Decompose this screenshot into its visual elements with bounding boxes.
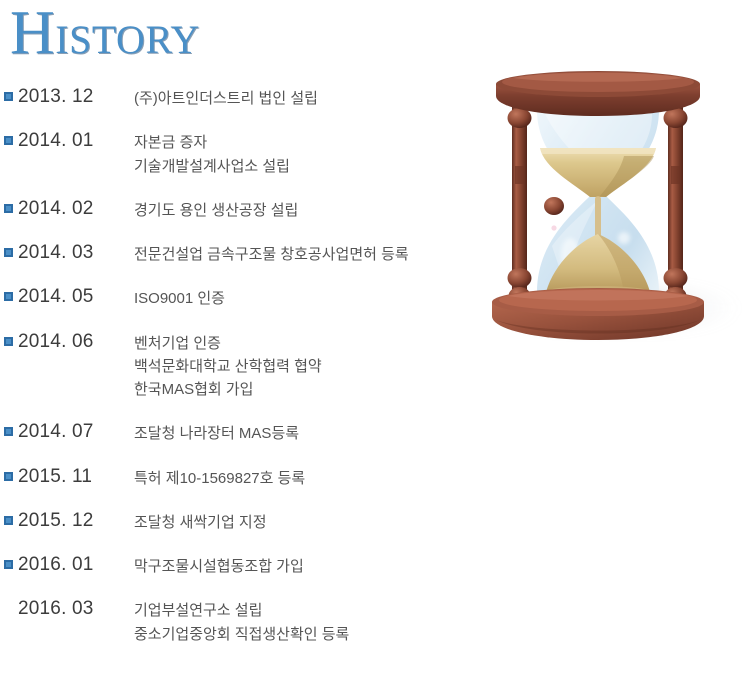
timeline-row: 2016. 01막구조물시설협동조합 가입 bbox=[0, 552, 470, 578]
timeline-description: 조달청 나라장터 MAS등록 bbox=[134, 419, 470, 445]
page-title-rest: ISTORY bbox=[55, 17, 200, 62]
timeline-row: 2015. 11특허 제10-1569827호 등록 bbox=[0, 464, 470, 490]
timeline-description: (주)아트인더스트리 법인 설립 bbox=[134, 84, 470, 110]
square-bullet-icon bbox=[4, 292, 13, 301]
timeline-date: 2013. 12 bbox=[18, 84, 134, 110]
square-bullet-icon bbox=[4, 472, 13, 481]
square-bullet-icon bbox=[4, 136, 13, 145]
timeline-description-line: (주)아트인더스트리 법인 설립 bbox=[134, 87, 470, 110]
timeline-date: 2015. 12 bbox=[18, 508, 134, 534]
timeline-description: 특허 제10-1569827호 등록 bbox=[134, 464, 470, 490]
timeline-description-line: 자본금 증자 bbox=[134, 131, 470, 154]
timeline-description-line: 특허 제10-1569827호 등록 bbox=[134, 467, 470, 490]
timeline-row: 2014. 01자본금 증자기술개발설계사업소 설립 bbox=[0, 128, 470, 178]
timeline-bullet-cell bbox=[0, 240, 18, 257]
timeline-date: 2014. 06 bbox=[18, 329, 134, 355]
timeline-description: ISO9001 인증 bbox=[134, 284, 470, 310]
timeline-row: 2014. 02경기도 용인 생산공장 설립 bbox=[0, 196, 470, 222]
timeline-bullet-cell bbox=[0, 284, 18, 301]
timeline-date: 2016. 01 bbox=[18, 552, 134, 578]
timeline-date: 2016. 03 bbox=[18, 596, 134, 622]
timeline-description: 벤처기업 인증백석문화대학교 산학협력 협약한국MAS협회 가입 bbox=[134, 329, 470, 402]
timeline-bullet-cell bbox=[0, 596, 18, 613]
timeline-description-line: 백석문화대학교 산학협력 협약 bbox=[134, 355, 470, 378]
timeline-date: 2014. 02 bbox=[18, 196, 134, 222]
timeline-date: 2014. 01 bbox=[18, 128, 134, 154]
timeline-bullet-cell bbox=[0, 128, 18, 145]
timeline-row: 2013. 12(주)아트인더스트리 법인 설립 bbox=[0, 84, 470, 110]
timeline-row: 2014. 03전문건설업 금속구조물 창호공사업면허 등록 bbox=[0, 240, 470, 266]
timeline-description-line: 기술개발설계사업소 설립 bbox=[134, 155, 470, 178]
timeline-date: 2015. 11 bbox=[18, 464, 134, 490]
timeline-description-line: 중소기업중앙회 직접생산확인 등록 bbox=[134, 623, 470, 646]
timeline-row: 2014. 07조달청 나라장터 MAS등록 bbox=[0, 419, 470, 445]
square-bullet-icon bbox=[4, 427, 13, 436]
timeline-description-line: 막구조물시설협동조합 가입 bbox=[134, 555, 470, 578]
timeline-description: 자본금 증자기술개발설계사업소 설립 bbox=[134, 128, 470, 178]
timeline-description: 경기도 용인 생산공장 설립 bbox=[134, 196, 470, 222]
hourglass-sand-upper bbox=[540, 148, 656, 197]
hourglass-base bbox=[492, 288, 704, 340]
timeline-row: 2016. 03기업부설연구소 설립중소기업중앙회 직접생산확인 등록 bbox=[0, 596, 470, 646]
square-bullet-icon bbox=[4, 516, 13, 525]
timeline-description: 막구조물시설협동조합 가입 bbox=[134, 552, 470, 578]
timeline-description-line: 한국MAS협회 가입 bbox=[134, 378, 470, 401]
timeline-description: 전문건설업 금속구조물 창호공사업면허 등록 bbox=[134, 240, 470, 266]
timeline-row: 2014. 06벤처기업 인증백석문화대학교 산학협력 협약한국MAS협회 가입 bbox=[0, 329, 470, 402]
timeline-description-line: 조달청 나라장터 MAS등록 bbox=[134, 422, 470, 445]
timeline-description-line: 전문건설업 금속구조물 창호공사업면허 등록 bbox=[134, 243, 470, 266]
timeline-bullet-cell bbox=[0, 464, 18, 481]
hourglass-post-left bbox=[508, 91, 532, 305]
square-bullet-icon bbox=[4, 337, 13, 346]
square-bullet-icon bbox=[4, 92, 13, 101]
timeline-date: 2014. 03 bbox=[18, 240, 134, 266]
timeline-row: 2015. 12조달청 새싹기업 지정 bbox=[0, 508, 470, 534]
timeline-bullet-cell bbox=[0, 508, 18, 525]
timeline-description: 기업부설연구소 설립중소기업중앙회 직접생산확인 등록 bbox=[134, 596, 470, 646]
timeline-bullet-cell bbox=[0, 196, 18, 213]
hourglass-center-knob bbox=[544, 197, 564, 215]
timeline-bullet-cell bbox=[0, 84, 18, 101]
timeline-description-line: 벤처기업 인증 bbox=[134, 332, 470, 355]
history-timeline-list: 2013. 12(주)아트인더스트리 법인 설립2014. 01자본금 증자기술… bbox=[0, 84, 470, 664]
timeline-description-line: 조달청 새싹기업 지정 bbox=[134, 511, 470, 534]
hourglass-post-right bbox=[664, 91, 688, 305]
timeline-date: 2014. 05 bbox=[18, 284, 134, 310]
timeline-description: 조달청 새싹기업 지정 bbox=[134, 508, 470, 534]
timeline-date: 2014. 07 bbox=[18, 419, 134, 445]
hourglass-illustration bbox=[474, 56, 742, 346]
page-title: HISTORY bbox=[10, 2, 200, 64]
hourglass-top-cap bbox=[496, 71, 700, 116]
timeline-row: 2014. 05ISO9001 인증 bbox=[0, 284, 470, 310]
square-bullet-icon bbox=[4, 204, 13, 213]
timeline-description-line: ISO9001 인증 bbox=[134, 287, 470, 310]
timeline-bullet-cell bbox=[0, 552, 18, 569]
page-title-initial: H bbox=[10, 0, 55, 67]
timeline-bullet-cell bbox=[0, 329, 18, 346]
square-bullet-icon bbox=[4, 248, 13, 257]
square-bullet-icon bbox=[4, 560, 13, 569]
timeline-description-line: 경기도 용인 생산공장 설립 bbox=[134, 199, 470, 222]
timeline-description-line: 기업부설연구소 설립 bbox=[134, 599, 470, 622]
timeline-bullet-cell bbox=[0, 419, 18, 436]
